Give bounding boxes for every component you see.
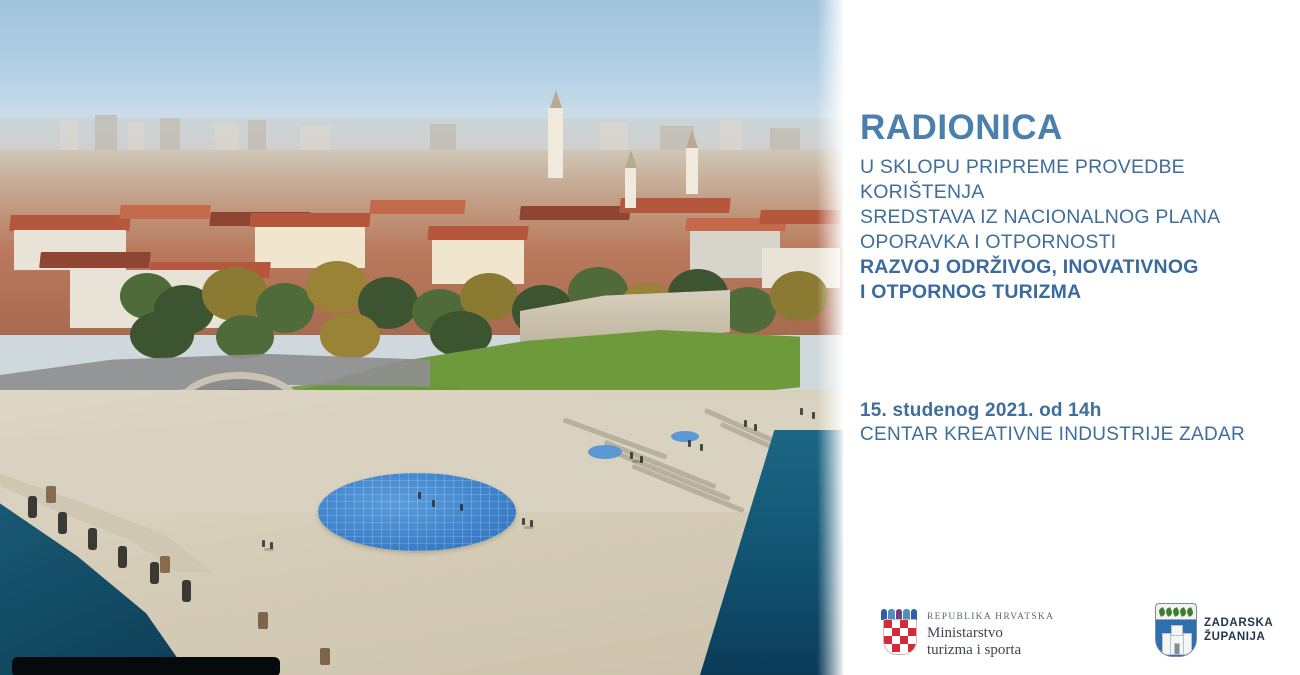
pedestrian (688, 440, 691, 447)
program-title-line-1: RAZVOJ ODRŽIVOG, INOVATIVNOG (860, 255, 1290, 280)
pedestrian (800, 408, 803, 415)
page-title: RADIONICA (860, 110, 1063, 145)
quay-fender (182, 580, 191, 602)
pedestrian-shadow (524, 526, 534, 529)
fortress-tower-charge (1162, 625, 1190, 653)
pedestrian (460, 504, 463, 511)
far-building (60, 120, 78, 152)
quay-fender (88, 528, 97, 550)
quay-fender (118, 546, 127, 568)
county-name-line-1: ZADARSKA (1204, 617, 1273, 629)
far-building (248, 120, 266, 152)
subtitle-block: U SKLOPU PRIPREME PROVEDBE KORIŠTENJA SR… (860, 155, 1290, 305)
tree (130, 311, 194, 359)
cathedral-bell-tower (548, 108, 563, 178)
program-title-line-2: I OTPORNOG TURIZMA (860, 280, 1290, 305)
mooring-bollard (320, 648, 330, 665)
checkerboard-shield (883, 619, 917, 655)
terracotta-roof (9, 215, 131, 231)
tree (320, 313, 380, 359)
far-building (95, 115, 117, 153)
terracotta-roof (369, 200, 465, 214)
olive-branch-chief (1156, 604, 1196, 620)
tower-spire (686, 130, 698, 148)
quay-fender (58, 512, 67, 534)
event-poster: RADIONICA U SKLOPU PRIPREME PROVEDBE KOR… (0, 0, 1300, 675)
event-date: 15. studenog 2021. od 14h (860, 400, 1102, 422)
far-building (128, 122, 144, 152)
ministry-name-line-1: Ministarstvo (927, 625, 1054, 642)
tower-spire (625, 150, 637, 168)
quay-fender (28, 496, 37, 518)
pedestrian (812, 412, 815, 419)
info-panel: RADIONICA U SKLOPU PRIPREME PROVEDBE KOR… (843, 0, 1300, 675)
pedestrian (262, 540, 265, 547)
zadar-county-logo-text: ZADARSKA ŽUPANIJA (1204, 616, 1273, 645)
subtitle-line-3: OPORAVKA I OTPORNOSTI (860, 231, 1116, 253)
church-bell-tower (686, 148, 698, 194)
subtitle-line-1: U SKLOPU PRIPREME PROVEDBE KORIŠTENJA (860, 156, 1185, 203)
ministry-logo: REPUBLIKA HRVATSKA Ministarstvo turizma … (880, 606, 1054, 659)
pedestrian (630, 452, 633, 459)
far-building (215, 124, 239, 152)
pedestrian-shadow (632, 460, 642, 463)
pedestrian-shadow (264, 548, 274, 551)
pedestrian (700, 444, 703, 451)
logo-row: REPUBLIKA HRVATSKA Ministarstvo turizma … (860, 598, 1300, 670)
tower-spire (550, 90, 562, 108)
far-building (300, 126, 330, 152)
greeting-to-sun-small-circle (588, 445, 622, 459)
subtitle-line-2: SREDSTAVA IZ NACIONALNOG PLANA (860, 206, 1220, 228)
croatian-coat-of-arms-icon (880, 609, 918, 655)
zadar-county-coat-of-arms-icon (1155, 603, 1197, 657)
greeting-to-sun-small-circle (671, 431, 699, 442)
pedestrian (754, 424, 757, 431)
video-player-bar[interactable] (12, 657, 280, 675)
olive-leaf (1186, 607, 1195, 617)
zadar-aerial-photo (0, 0, 843, 675)
photo-edge-fade (817, 0, 843, 675)
pedestrian (522, 518, 525, 525)
tree (216, 315, 274, 359)
ministry-republic-line: REPUBLIKA HRVATSKA (927, 612, 1054, 622)
event-venue: CENTAR KREATIVNE INDUSTRIJE ZADAR (860, 424, 1245, 446)
pedestrian (418, 492, 421, 499)
pedestrian (432, 500, 435, 507)
church-bell-tower (625, 168, 636, 208)
far-building (720, 120, 742, 154)
mooring-bollard (46, 486, 56, 503)
ministry-logo-text: REPUBLIKA HRVATSKA Ministarstvo turizma … (927, 606, 1054, 659)
quay-fender (150, 562, 159, 584)
far-building (160, 118, 180, 152)
county-name-line-2: ŽUPANIJA (1204, 631, 1265, 643)
mooring-bollard (160, 556, 170, 573)
sun-salutation-installation (318, 473, 516, 551)
ministry-name-line-2: turizma i sporta (927, 642, 1054, 659)
pedestrian (744, 420, 747, 427)
zadar-county-logo: ZADARSKA ŽUPANIJA (1155, 603, 1273, 657)
mooring-bollard (258, 612, 268, 629)
